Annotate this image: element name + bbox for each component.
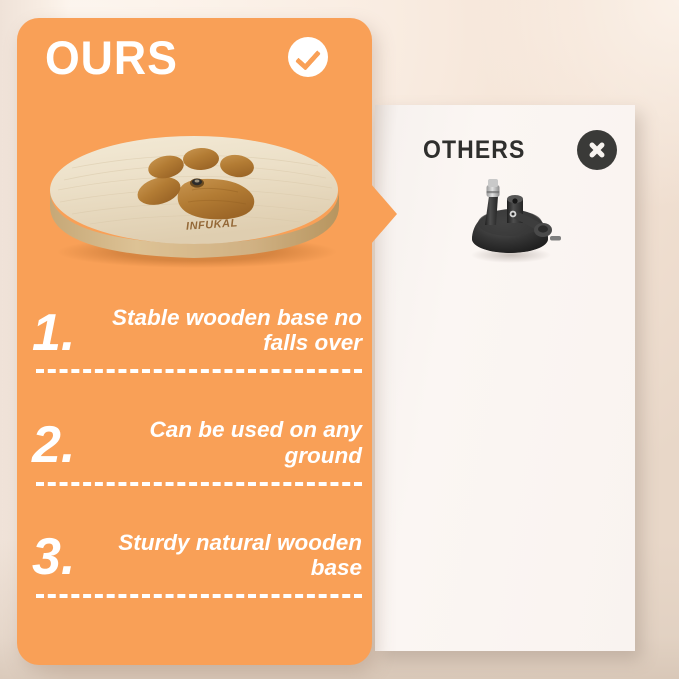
check-circle-icon: [288, 37, 328, 77]
cross-circle-icon: [577, 130, 617, 170]
list-item-text: Can be used on any ground: [102, 417, 362, 469]
ours-feature-list: 1. Stable wooden base no falls over 2. C…: [32, 305, 362, 626]
list-item-number: 1.: [32, 310, 94, 358]
list-item: 3. Sturdy natural wooden base: [32, 530, 362, 598]
list-item-text: Stable wooden base no falls over: [102, 305, 362, 357]
list-item-text: Sturdy natural wooden base: [102, 530, 362, 582]
list-item-divider: [36, 369, 362, 373]
wooden-base-product-image: [42, 128, 347, 268]
list-item-number: 3.: [32, 534, 94, 582]
list-item: 2. Can be used on any ground: [32, 417, 362, 485]
list-item-row: 1. Stable wooden base no falls over: [32, 305, 362, 357]
ours-panel-arrow: [371, 184, 397, 244]
others-title: OTHERS: [423, 136, 525, 165]
list-item-divider: [36, 482, 362, 486]
list-item: 1. Stable wooden base no falls over: [32, 305, 362, 373]
suction-cup-product-image: [455, 163, 567, 263]
ours-header: OURS: [0, 22, 355, 92]
list-item-divider: [36, 594, 362, 598]
list-item-row: 3. Sturdy natural wooden base: [32, 530, 362, 582]
list-item-number: 2.: [32, 422, 94, 470]
comparison-infographic: OTHERS 1. Not sticky, unable to stand up…: [0, 0, 679, 679]
ours-title: OURS: [45, 34, 178, 81]
list-item-row: 2. Can be used on any ground: [32, 417, 362, 469]
